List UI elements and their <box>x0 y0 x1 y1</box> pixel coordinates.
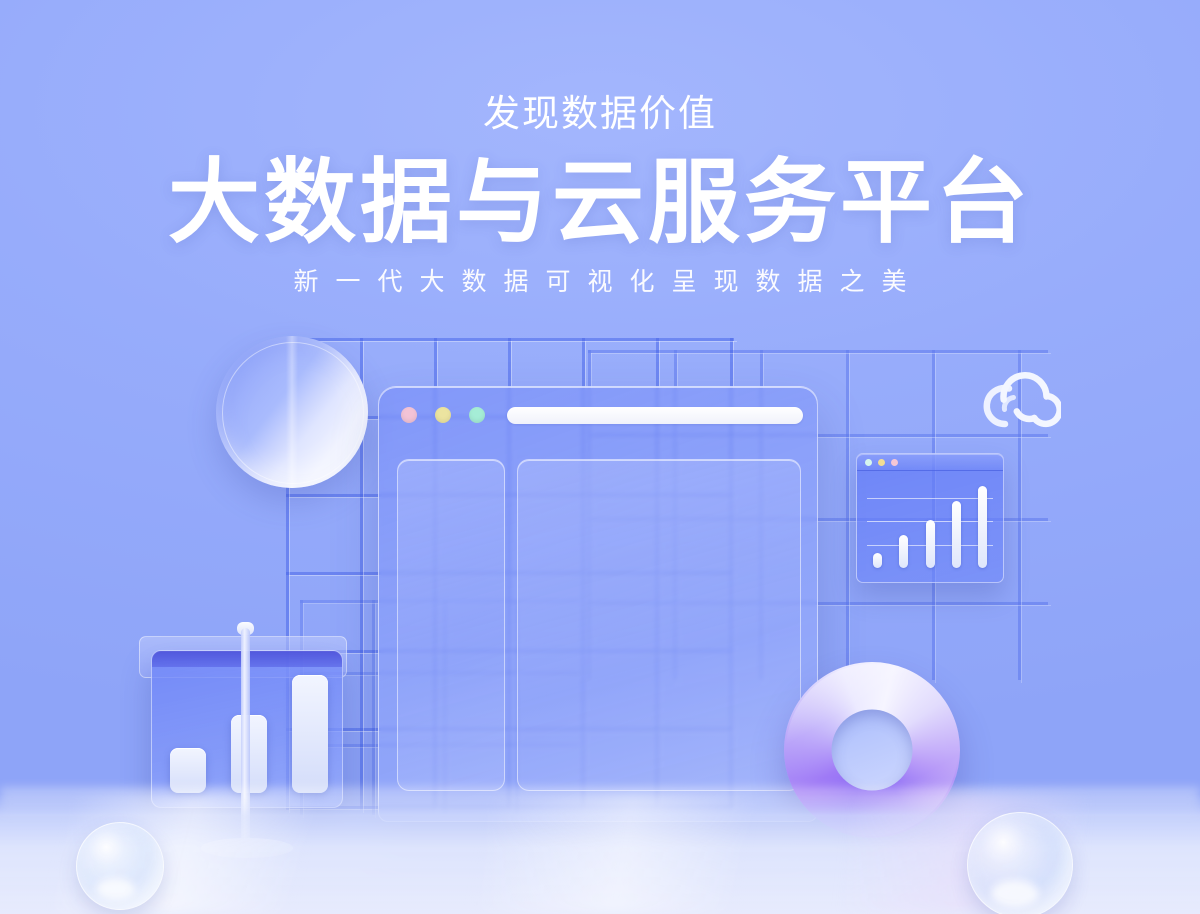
mini-chart-window[interactable] <box>856 453 1004 583</box>
bar-3 <box>292 675 328 793</box>
bar-2 <box>899 535 908 568</box>
hero-banner: 发现数据价值 大数据与云服务平台 新一代大数据可视化呈现数据之美 <box>0 0 1200 914</box>
mini-window-titlebar <box>857 454 1003 471</box>
gradient-disc-decoration <box>216 336 368 488</box>
close-icon[interactable] <box>865 459 872 466</box>
page-title: 大数据与云服务平台 <box>0 155 1200 253</box>
glass-sphere-left <box>76 822 164 910</box>
main-browser-window[interactable] <box>378 386 818 822</box>
traffic-light-dots <box>401 407 485 423</box>
bar-5 <box>978 486 987 568</box>
bar-4 <box>952 501 961 568</box>
hero-text-block: 发现数据价值 大数据与云服务平台 新一代大数据可视化呈现数据之美 <box>0 0 1200 298</box>
mini-bar-chart <box>867 478 993 568</box>
address-bar-input[interactable] <box>507 407 803 424</box>
content-panel[interactable] <box>517 459 801 791</box>
sidebar-panel[interactable] <box>397 459 505 791</box>
minimize-icon[interactable] <box>435 407 451 423</box>
minimize-icon[interactable] <box>878 459 885 466</box>
maximize-icon[interactable] <box>891 459 898 466</box>
subtitle-text: 新一代大数据可视化呈现数据之美 <box>0 262 1200 298</box>
eyebrow-text: 发现数据价值 <box>0 94 1200 135</box>
bar-3 <box>926 520 935 568</box>
close-icon[interactable] <box>401 407 417 423</box>
glass-sphere-right <box>967 812 1073 914</box>
maximize-icon[interactable] <box>469 407 485 423</box>
browser-titlebar <box>379 387 817 443</box>
bar-1 <box>873 553 882 568</box>
mini-bar-series <box>873 478 987 568</box>
bar-1 <box>170 748 206 793</box>
cloud-icon <box>975 362 1061 428</box>
